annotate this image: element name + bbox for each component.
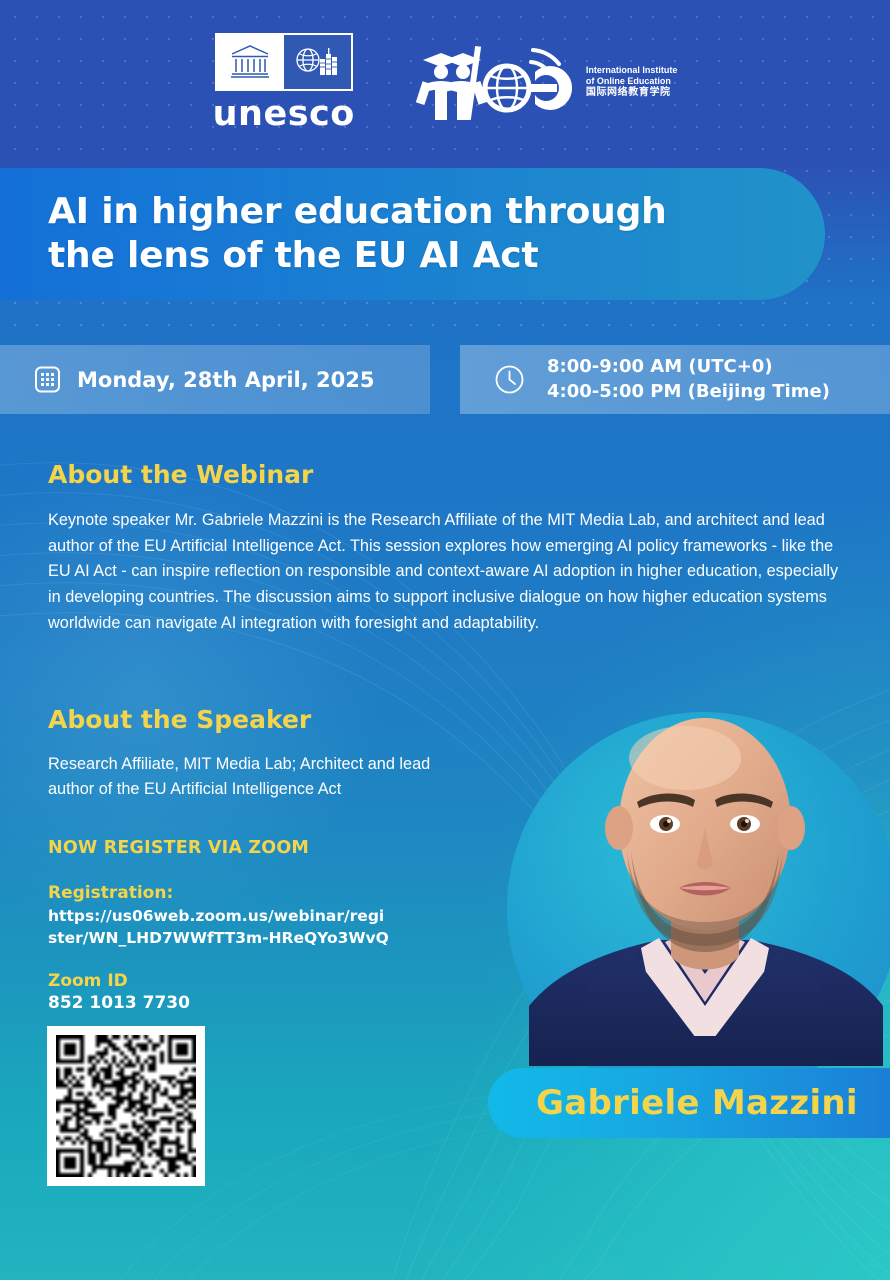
about-webinar-section: About the Webinar Keynote speaker Mr. Ga…	[48, 460, 853, 637]
webinar-date: Monday, 28th April, 2025	[77, 368, 374, 392]
unesco-wordmark: unesco	[213, 97, 355, 132]
time-beijing: 4:00-5:00 PM (Beijing Time)	[547, 381, 830, 402]
qr-code-icon[interactable]	[47, 1026, 205, 1186]
registration-label: Registration:	[48, 883, 448, 903]
title-line-2: the lens of the EU AI Act	[48, 235, 538, 276]
speaker-name-banner: Gabriele Mazzini	[488, 1068, 890, 1138]
about-speaker-section: About the Speaker Research Affiliate, MI…	[48, 705, 478, 802]
iioe-name: International Institute of Online Educat…	[586, 65, 678, 98]
iioe-logo: International Institute of Online Educat…	[401, 36, 678, 128]
registration-section: NOW REGISTER VIA ZOOM Registration: http…	[48, 838, 448, 1013]
clock-icon	[494, 364, 525, 395]
unesco-emblem-icon	[215, 33, 353, 91]
title-line-1: AI in higher education through	[48, 191, 667, 232]
speaker-portrait-photo	[519, 706, 890, 1066]
time-utc: 8:00-9:00 AM (UTC+0)	[547, 356, 773, 377]
webinar-poster: unesco	[0, 0, 890, 1280]
iioe-globe-logo-icon	[401, 36, 579, 128]
title-banner: AI in higher education through the lens …	[0, 168, 825, 300]
speaker-bio: Research Affiliate, MIT Media Lab; Archi…	[48, 752, 478, 802]
speaker-portrait-illustration	[519, 706, 890, 1066]
about-webinar-body: Keynote speaker Mr. Gabriele Mazzini is …	[48, 508, 848, 637]
webinar-time: 8:00-9:00 AM (UTC+0) 4:00-5:00 PM (Beiji…	[547, 355, 830, 404]
date-box: Monday, 28th April, 2025	[0, 345, 430, 414]
speaker-name: Gabriele Mazzini	[536, 1083, 858, 1123]
unesco-globe-city-icon	[293, 43, 341, 81]
registration-url[interactable]: https://us06web.zoom.us/webinar/register…	[48, 905, 393, 949]
zoom-id-value: 852 1013 7730	[48, 993, 448, 1013]
zoom-id-label: Zoom ID	[48, 971, 448, 991]
unesco-logo: unesco	[213, 33, 355, 132]
logo-bar: unesco	[0, 22, 890, 142]
unesco-temple-icon	[229, 43, 271, 81]
about-webinar-heading: About the Webinar	[48, 460, 853, 490]
iioe-name-line2: of Online Education	[586, 76, 678, 87]
page-title: AI in higher education through the lens …	[0, 190, 667, 278]
calendar-icon	[34, 365, 61, 394]
time-box: 8:00-9:00 AM (UTC+0) 4:00-5:00 PM (Beiji…	[460, 345, 890, 414]
iioe-name-line1: International Institute	[586, 65, 678, 76]
iioe-name-chinese: 国际网络教育学院	[586, 87, 678, 99]
about-speaker-heading: About the Speaker	[48, 705, 478, 735]
register-cta: NOW REGISTER VIA ZOOM	[48, 838, 448, 858]
